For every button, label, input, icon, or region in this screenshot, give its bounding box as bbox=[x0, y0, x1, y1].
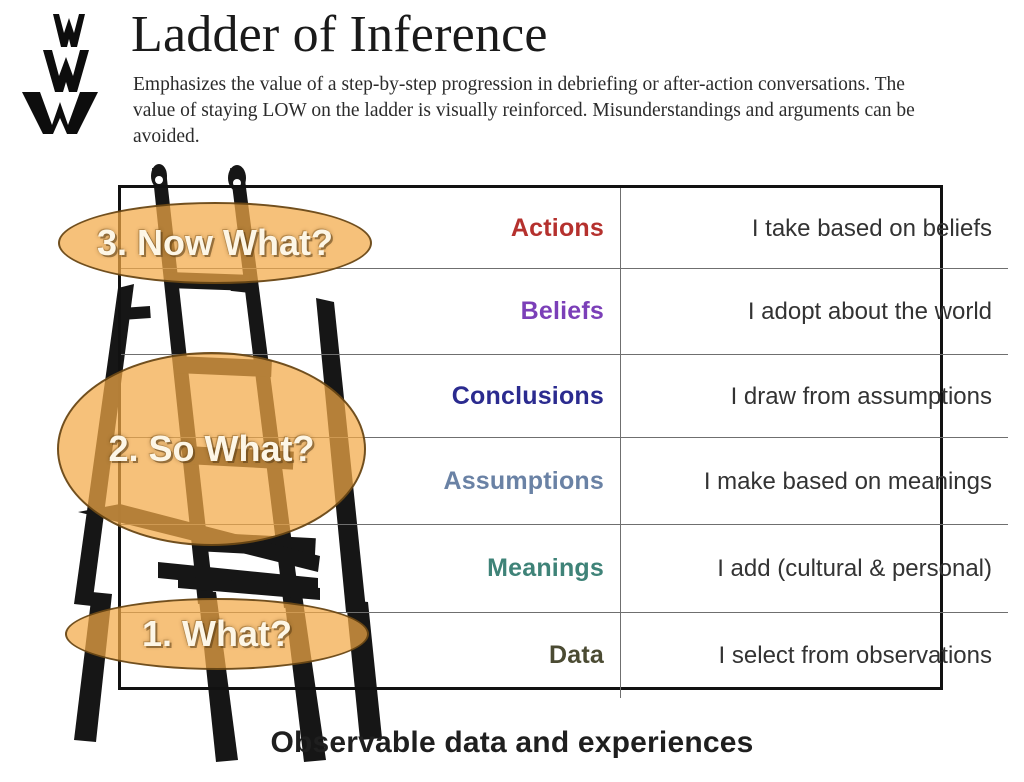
triple-w-logo-icon bbox=[14, 6, 126, 134]
row-desc-data: I select from observations bbox=[621, 613, 1009, 699]
row-desc-beliefs: I adopt about the world bbox=[621, 269, 1009, 355]
stage-label-1: 1. What? bbox=[142, 613, 292, 655]
stage-ellipse-so-what: 2. So What? bbox=[57, 352, 366, 546]
stage-ellipse-what: 1. What? bbox=[65, 598, 369, 670]
footer-caption: Observable data and experiences bbox=[0, 726, 1024, 760]
header: Ladder of Inference Emphasizes the value… bbox=[0, 0, 1024, 175]
page-subtitle: Emphasizes the value of a step-by-step p… bbox=[133, 72, 933, 150]
poster-canvas: Ladder of Inference Emphasizes the value… bbox=[0, 0, 1024, 782]
row-desc-conclusions: I draw from assumptions bbox=[621, 355, 1009, 438]
stage-label-3: 3. Now What? bbox=[97, 222, 333, 264]
page-title: Ladder of Inference bbox=[131, 4, 548, 66]
stage-ellipse-now-what: 3. Now What? bbox=[58, 202, 372, 284]
row-desc-actions: I take based on beliefs bbox=[621, 188, 1009, 269]
row-desc-meanings: I add (cultural & personal) bbox=[621, 525, 1009, 613]
row-desc-assumptions: I make based on meanings bbox=[621, 438, 1009, 525]
stage-label-2: 2. So What? bbox=[109, 428, 315, 470]
